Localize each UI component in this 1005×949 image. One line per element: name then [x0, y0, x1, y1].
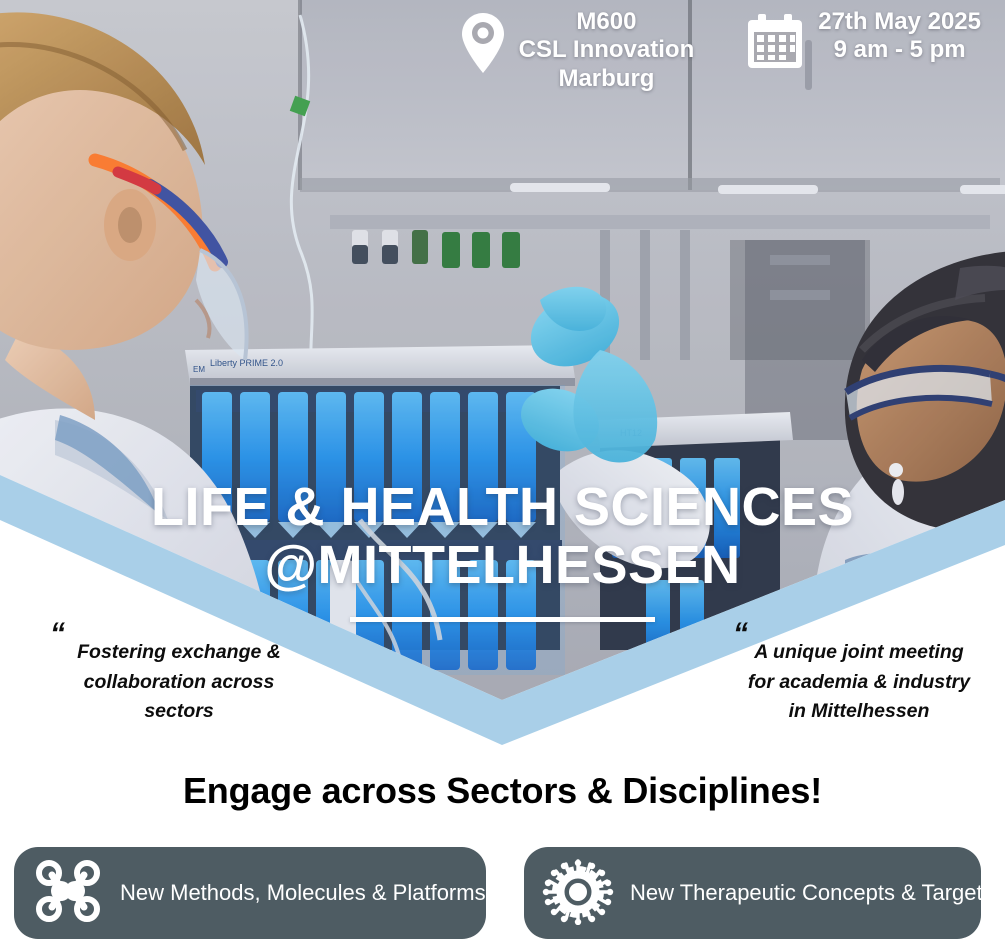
topic-pill-methods[interactable]: New Methods, Molecules & Platforms [14, 847, 486, 939]
location-line-3: Marburg [519, 65, 695, 93]
location-block: M600 CSL Innovation Marburg [461, 8, 695, 93]
virus-target-icon [542, 857, 614, 930]
date-line-1: 27th May 2025 [818, 8, 981, 36]
calendar-icon [746, 12, 804, 75]
quote-left: “ Fostering exchange & collaboration acr… [44, 634, 314, 727]
topic-pill-therapeutics-label: New Therapeutic Concepts & Targets [630, 880, 994, 906]
quote-left-line-1: Fostering exchange & [44, 638, 314, 668]
molecule-icon [32, 859, 104, 928]
header-info-bar: M600 CSL Innovation Marburg [0, 0, 1005, 110]
date-line-2: 9 am - 5 pm [818, 36, 981, 64]
quote-right-line-2: for academia & industry [729, 668, 989, 698]
location-line-2: CSL Innovation [519, 36, 695, 64]
map-pin-icon [461, 12, 505, 79]
topic-pill-row: New Methods, Molecules & Platforms [0, 845, 1005, 941]
quote-right-line-3: in Mittelhessen [729, 697, 989, 727]
location-line-1: M600 [519, 8, 695, 36]
quote-left-line-2: collaboration across [44, 668, 314, 698]
quote-right: “ A unique joint meeting for academia & … [729, 634, 989, 727]
topic-pill-methods-label: New Methods, Molecules & Platforms [120, 880, 486, 906]
location-text: M600 CSL Innovation Marburg [519, 8, 695, 93]
quote-right-line-1: A unique joint meeting [729, 638, 989, 668]
quote-left-line-3: sectors [44, 697, 314, 727]
topic-pill-therapeutics[interactable]: New Therapeutic Concepts & Targets [524, 847, 981, 939]
event-poster: Liberty PRIME 2.0 EM [0, 0, 1005, 949]
date-text: 27th May 2025 9 am - 5 pm [818, 8, 981, 65]
headline-text: Engage across Sectors & Disciplines! [0, 770, 1005, 812]
date-block: 27th May 2025 9 am - 5 pm [746, 8, 981, 75]
